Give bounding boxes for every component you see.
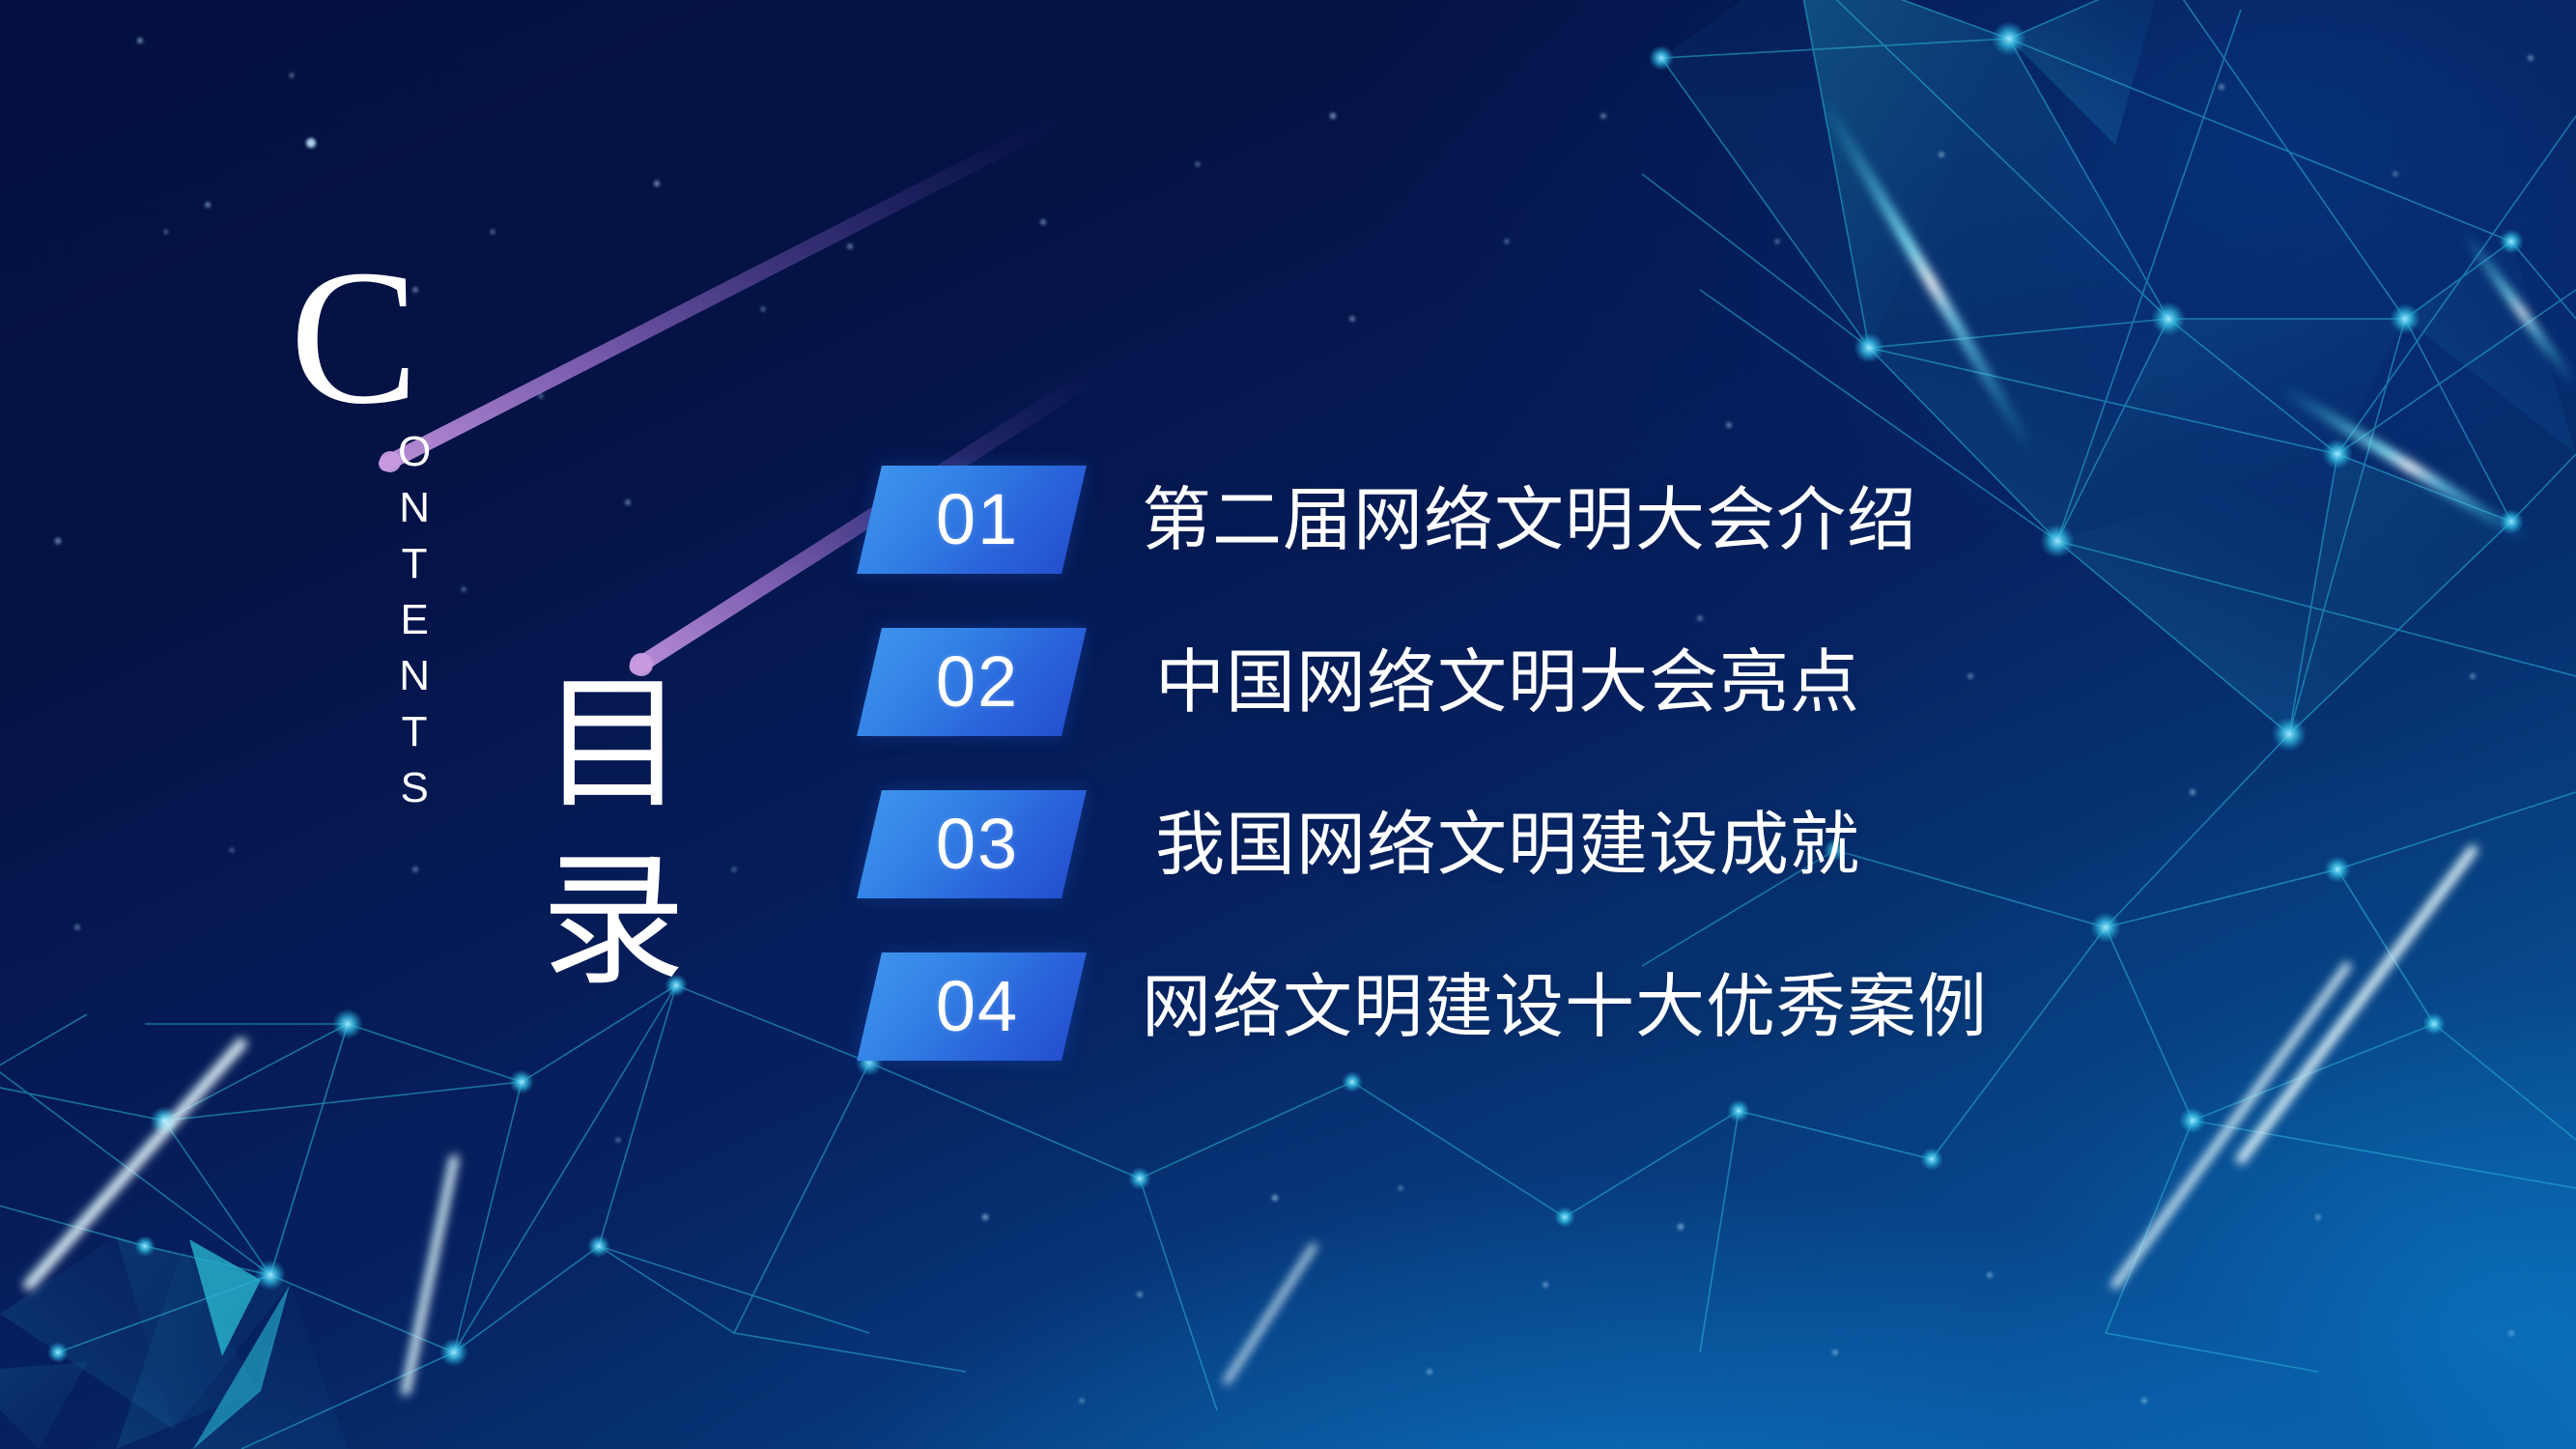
- agenda-number-02: 02: [869, 628, 1074, 736]
- agenda-list: 01 第二届网络文明大会介绍 02 中国网络文明大会亮点 03 我国网络文明建设…: [869, 454, 2318, 1103]
- agenda-item-04[interactable]: 04 网络文明建设十大优秀案例: [869, 941, 2318, 1103]
- agenda-label-01: 第二届网络文明大会介绍: [1142, 466, 1917, 574]
- contents-letter-e: E: [400, 599, 428, 641]
- contents-initial-letter: C: [290, 241, 418, 435]
- polygon-cluster-bottom-left: [0, 1236, 348, 1449]
- contents-vertical-letters: O N T E N T S: [398, 431, 431, 810]
- contents-title-block: C O N T E N T S: [290, 241, 522, 918]
- contents-letter-n2: N: [399, 655, 430, 697]
- contents-letter-o: O: [398, 431, 431, 473]
- contents-letter-t2: T: [402, 711, 428, 753]
- slide-canvas: C O N T E N T S 目 录 01 第二届网络文明大会介绍 02 中国…: [0, 0, 2576, 1449]
- cyan-triangle-accent: [193, 1285, 290, 1449]
- contents-title-cn: 目 录: [488, 657, 739, 1010]
- contents-letter-s: S: [400, 767, 428, 810]
- agenda-label-03: 我国网络文明建设成就: [1155, 790, 1860, 898]
- agenda-number-03: 03: [869, 790, 1074, 898]
- agenda-item-01[interactable]: 01 第二届网络文明大会介绍: [869, 454, 2318, 616]
- contents-letter-n1: N: [399, 487, 430, 529]
- contents-title-cn-char-2: 录: [541, 834, 686, 1010]
- agenda-number-04: 04: [869, 952, 1074, 1061]
- agenda-label-02: 中国网络文明大会亮点: [1155, 628, 1860, 736]
- agenda-item-02[interactable]: 02 中国网络文明大会亮点: [869, 616, 2318, 779]
- agenda-number-01: 01: [869, 466, 1074, 574]
- agenda-label-04: 网络文明建设十大优秀案例: [1142, 952, 1988, 1061]
- contents-title-cn-char-1: 目: [541, 657, 686, 834]
- contents-letter-t1: T: [402, 543, 428, 585]
- agenda-item-03[interactable]: 03 我国网络文明建设成就: [869, 779, 2318, 941]
- cyan-triangle-accent-2: [189, 1239, 261, 1356]
